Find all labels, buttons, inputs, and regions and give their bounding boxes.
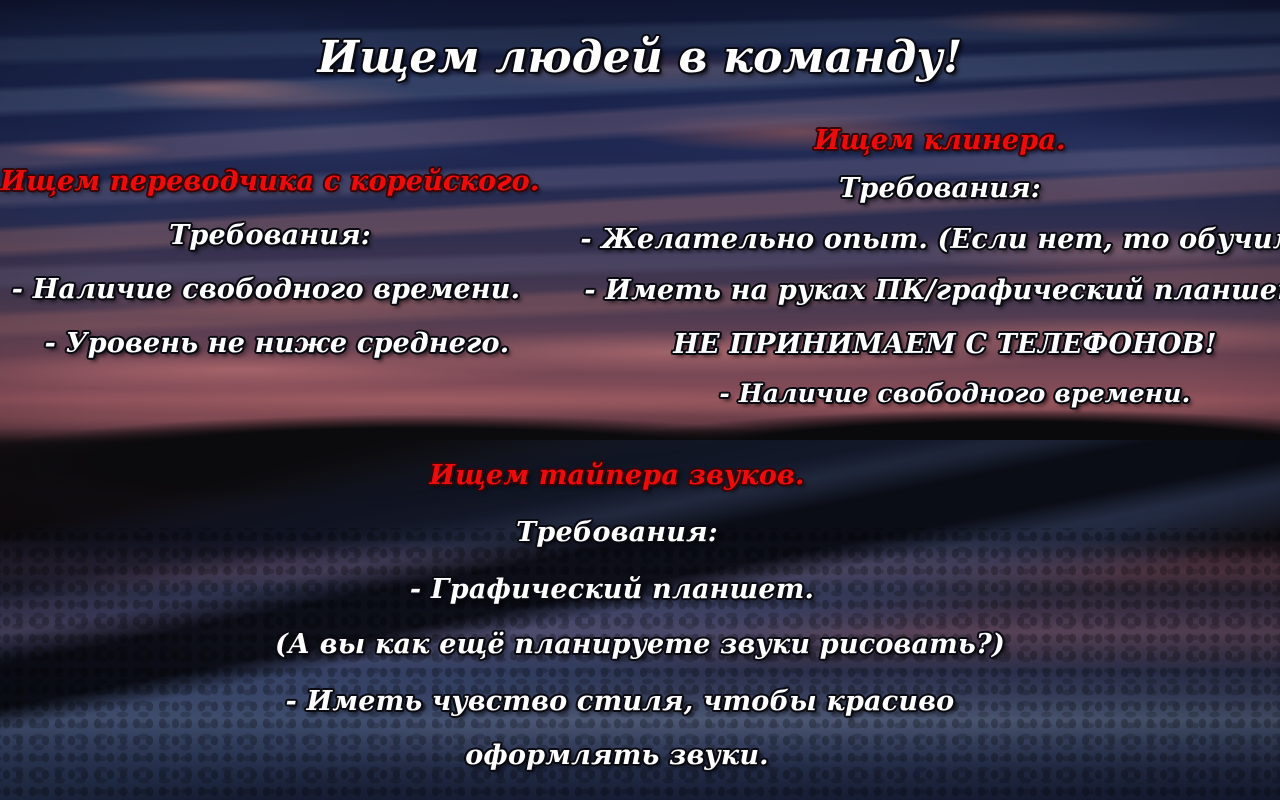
requirement-item: - Уровень не ниже среднего. — [45, 330, 510, 357]
requirements-label-translator: Требования: — [169, 222, 371, 249]
requirement-item: - Графический планшет. — [410, 576, 814, 603]
requirements-label-cleaner: Требования: — [839, 175, 1041, 202]
requirement-item: - Иметь на руках ПК/графический планшет. — [584, 277, 1280, 304]
recruitment-poster: Ищем людей в команду! Ищем переводчика с… — [0, 0, 1280, 800]
role-title-sfx-typer: Ищем тайпера звуков. — [429, 462, 804, 489]
requirement-item: - Наличие свободного времени. — [12, 276, 520, 303]
requirement-item: - Наличие свободного времени. — [719, 381, 1190, 406]
requirements-label-sfx-typer: Требования: — [516, 519, 718, 546]
role-title-translator: Ищем переводчика с корейского. — [1, 168, 540, 195]
requirement-item: - Желательно опыт. (Если нет, то обучим) — [580, 226, 1280, 253]
requirement-item: (А вы как ещё планируете звуки рисовать?… — [275, 631, 1005, 658]
requirement-item: оформлять звуки. — [465, 742, 769, 769]
role-title-cleaner: Ищем клинера. — [814, 127, 1065, 154]
requirement-item: - Иметь чувство стиля, чтобы красиво — [286, 688, 955, 715]
requirement-item-no-phones: НЕ ПРИНИМАЕМ С ТЕЛЕФОНОВ! — [673, 331, 1216, 358]
poster-title: Ищем людей в команду! — [318, 36, 963, 80]
